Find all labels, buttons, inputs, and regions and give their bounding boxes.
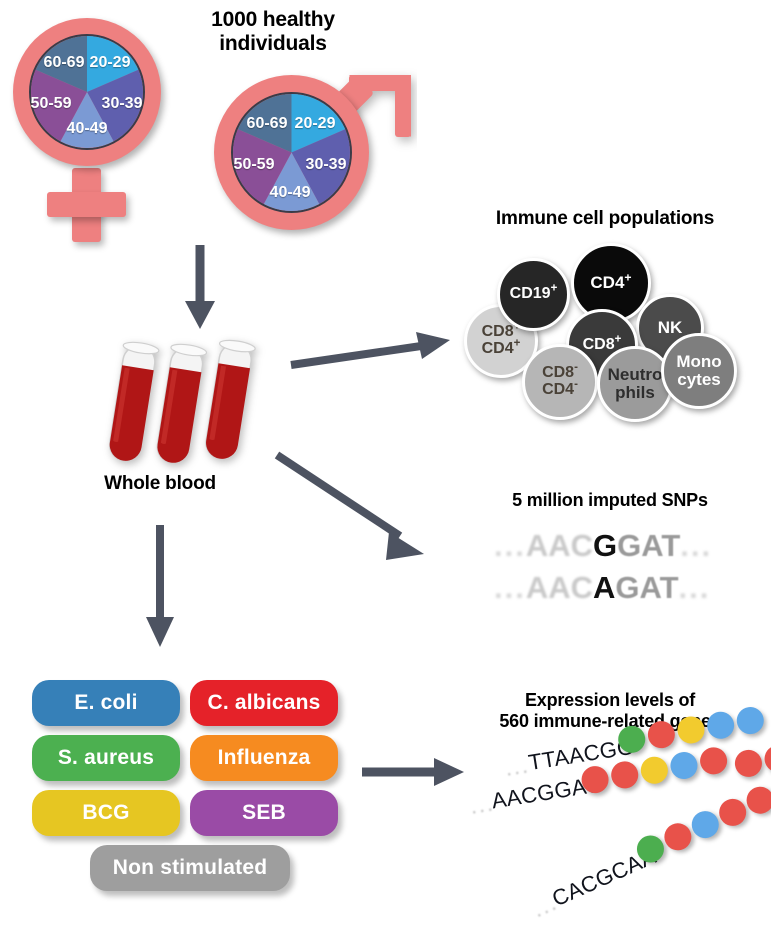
pie-label-40-49: 40-49	[67, 120, 108, 138]
whole-blood-tubes	[100, 335, 270, 480]
pie-label-60-69: 60-69	[44, 54, 85, 72]
cell-circle-neutrophils: Neutro phils	[597, 346, 673, 422]
snp-allele-row-2: ...AACAGAT...	[494, 570, 710, 606]
cell-label-line1: Neutro	[608, 366, 663, 384]
snp-before-bases: AAC	[526, 570, 593, 605]
arrow-blood-to-immune-cells	[288, 322, 463, 377]
stimulation-label: SEB	[242, 801, 286, 825]
female-gender-symbol: 20-29 30-39 40-49 50-59 60-69	[0, 0, 230, 250]
cell-circle-cd19p: CD19+	[497, 258, 570, 331]
cell-circle-cd8n-cd4n: CD8- CD4-	[522, 344, 598, 420]
figure-canvas: 1000 healthy individuals 20-29 30-39 40-…	[0, 0, 771, 922]
arrow-cohort-to-blood	[180, 243, 220, 333]
snp-prefix-dots: ...	[494, 570, 526, 605]
snp-after-bases: GAT	[615, 570, 678, 605]
female-symbol-stem-cross	[47, 192, 126, 217]
pie-label-30-39: 30-39	[306, 156, 347, 174]
stimulation-chip-bcg[interactable]: BCG	[32, 790, 180, 836]
blood-tube-2	[153, 342, 207, 465]
strand-bead	[669, 750, 700, 781]
cell-label: NK	[658, 319, 683, 337]
snp-after-bases: GAT	[617, 528, 680, 563]
strand-bead	[733, 748, 764, 779]
section-title-immune-cells: Immune cell populations	[455, 208, 755, 230]
blood-tube-1	[105, 340, 159, 463]
expression-strand-3: ... CACGCAA	[535, 888, 771, 938]
cell-label-line1: CD8-	[542, 365, 578, 382]
pie-label-60-69: 60-69	[247, 115, 288, 133]
pie-label-20-29: 20-29	[295, 115, 336, 133]
strand-bead	[676, 715, 707, 746]
pie-label-20-29: 20-29	[90, 54, 131, 72]
strand-bead	[646, 719, 677, 750]
strand-bead	[698, 745, 729, 776]
stimulation-label: S. aureus	[58, 746, 154, 770]
cell-label-line2: CD4-	[542, 382, 578, 399]
snp-allele-row-1: ...AACGGAT...	[494, 528, 712, 564]
strand-bead	[609, 759, 640, 790]
stimulation-chip-e-coli[interactable]: E. coli	[32, 680, 180, 726]
cell-label-line1: Mono	[676, 353, 721, 371]
stimulation-label: E. coli	[74, 691, 137, 715]
strand-bead	[735, 705, 766, 736]
snp-before-bases: AAC	[526, 528, 593, 563]
pie-label-30-39: 30-39	[102, 95, 143, 113]
stimulation-label: Non stimulated	[113, 856, 267, 880]
snp-suffix-dots: ...	[679, 570, 711, 605]
cell-label: CD4+	[590, 274, 631, 292]
blood-tube-3	[202, 338, 256, 461]
stimulation-chip-influenza[interactable]: Influenza	[190, 735, 338, 781]
arrow-blood-to-stimulations	[140, 523, 180, 651]
snp-suffix-dots: ...	[680, 528, 712, 563]
cell-label-line2: cytes	[676, 371, 721, 389]
strand-bead	[705, 710, 736, 741]
male-gender-symbol: 20-29 30-39 40-49 50-59 60-69	[205, 55, 415, 255]
arrow-blood-to-snps	[272, 450, 457, 575]
arrow-stimulations-to-expression	[360, 752, 480, 792]
snp-variant-base: G	[593, 528, 617, 563]
pie-label-40-49: 40-49	[270, 184, 311, 202]
stimulation-label: Influenza	[218, 746, 311, 770]
stimulation-chip-c-albicans[interactable]: C. albicans	[190, 680, 338, 726]
section-title-snps: 5 million imputed SNPs	[460, 490, 760, 511]
pie-label-50-59: 50-59	[31, 95, 72, 113]
stimulation-chip-seb[interactable]: SEB	[190, 790, 338, 836]
label-whole-blood: Whole blood	[50, 473, 270, 495]
cell-circle-monocytes: Mono cytes	[661, 333, 737, 409]
stimulation-chip-s-aureus[interactable]: S. aureus	[32, 735, 180, 781]
cell-label-line2: CD4+	[482, 341, 521, 358]
stimulation-label: BCG	[82, 801, 129, 825]
pie-label-50-59: 50-59	[234, 156, 275, 174]
strand-bead	[639, 755, 670, 786]
cell-label-line2: phils	[608, 384, 663, 402]
stimulation-chip-non-stimulated[interactable]: Non stimulated	[90, 845, 290, 891]
snp-prefix-dots: ...	[494, 528, 526, 563]
cell-label: CD19+	[510, 286, 558, 303]
snp-variant-base: A	[593, 570, 615, 605]
stimulation-label: C. albicans	[207, 691, 320, 715]
